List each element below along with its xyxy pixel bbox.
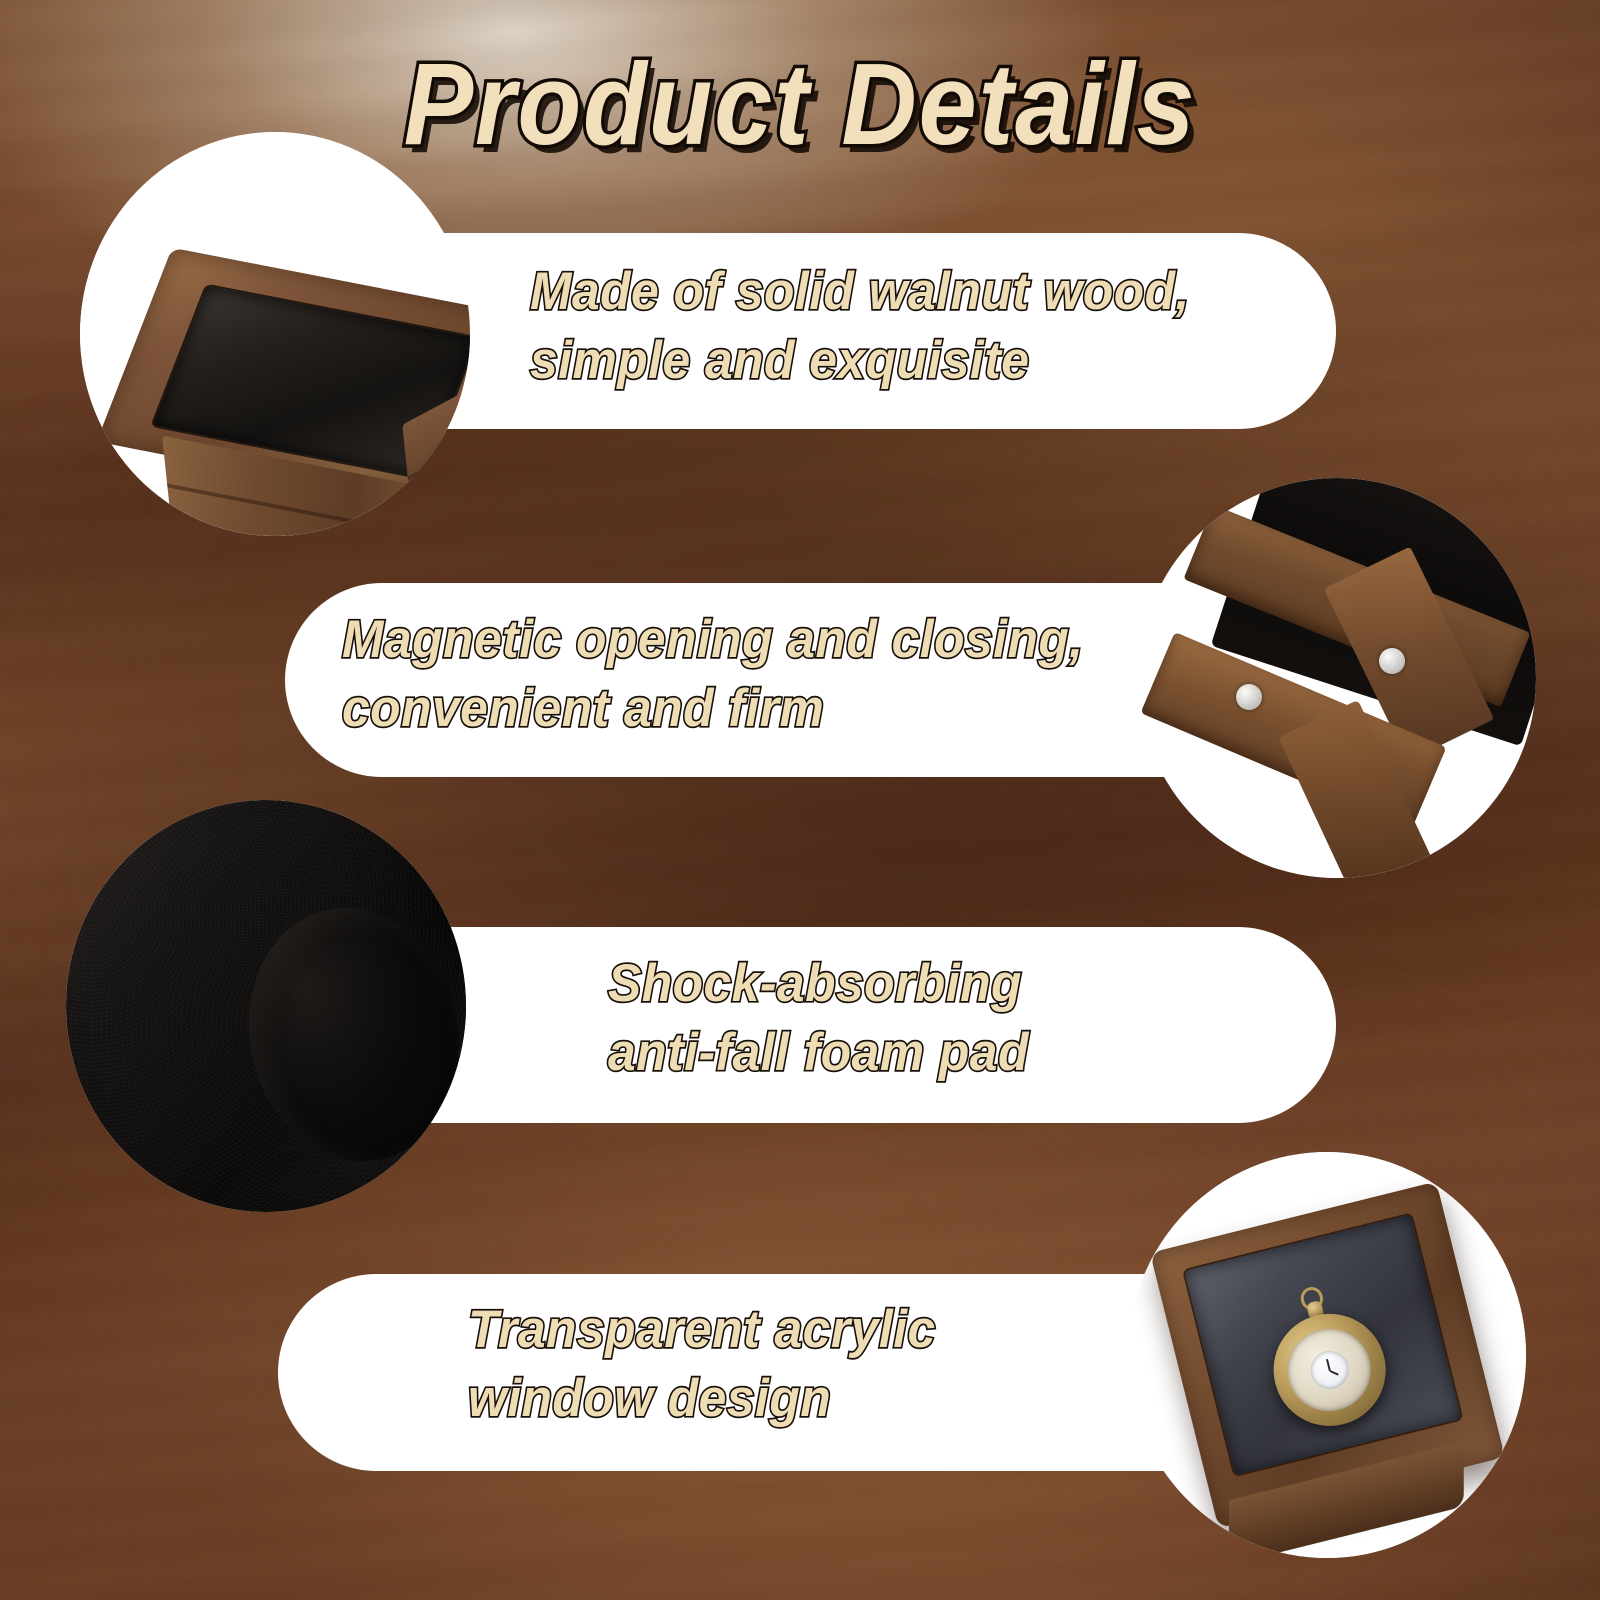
product-details-infographic: Product Details [0, 0, 1600, 1600]
page-title: Product Details [80, 44, 1520, 166]
closed-walnut-box-photo [80, 132, 470, 536]
feature-text-3: Shock-absorbing anti-fall foam pad [608, 950, 1266, 1088]
watch-dial [1306, 1347, 1352, 1393]
magnet-dot-base [1236, 684, 1262, 710]
feature-text-1: Made of solid walnut wood, simple and ex… [530, 258, 1244, 396]
magnet-dot-lid [1379, 648, 1405, 674]
magnetic-closure-photo [1138, 478, 1536, 878]
watch-roman-numeral-ring [1279, 1320, 1379, 1420]
watch-case [1261, 1302, 1396, 1437]
watch-bail-ring [1298, 1285, 1325, 1312]
walnut-display-box [1150, 1181, 1505, 1528]
foam-pad-photo [66, 800, 466, 1212]
feature-text-4: Transparent acrylic window design [468, 1296, 1126, 1434]
watch-hour-hand [1330, 1370, 1339, 1376]
walnut-box-illustration [110, 243, 470, 536]
feature-text-2: Magnetic opening and closing, convenient… [342, 606, 1094, 744]
acrylic-window-photo [1128, 1152, 1526, 1558]
watch-crown [1306, 1300, 1324, 1320]
pocket-watch [1261, 1302, 1396, 1437]
